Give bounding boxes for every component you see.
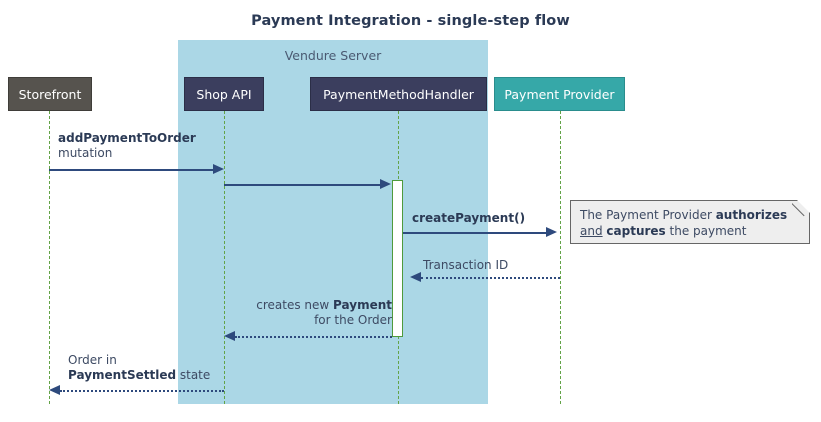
participant-label-storefront: Storefront (19, 87, 82, 102)
sequence-diagram-canvas: Payment Integration - single-step flow V… (0, 0, 821, 422)
participant-storefront[interactable]: Storefront (8, 77, 92, 111)
arrow-head-shop-api-to-handler (380, 179, 391, 189)
message-label-plain-order-in: Order in (68, 353, 117, 367)
message-line-create-payment (403, 232, 546, 234)
participant-shop-api[interactable]: Shop API (184, 77, 264, 111)
participant-label-shop-api: Shop API (196, 87, 251, 102)
note-line2-underlined-and: and (580, 224, 603, 238)
message-label-bold-create-payment: createPayment() (412, 211, 525, 225)
message-label-bold-add-payment-to-order: addPaymentToOrder (58, 131, 196, 145)
lifeline-storefront (49, 111, 50, 404)
participant-label-payment-method-handler: PaymentMethodHandler (323, 87, 474, 102)
lifeline-payment-provider (560, 111, 561, 404)
message-label-bold-payment-settled: PaymentSettled (68, 368, 176, 382)
message-line-creates-new-payment (235, 336, 392, 338)
message-label-add-payment-to-order: addPaymentToOrder mutation (58, 131, 196, 161)
participant-payment-provider[interactable]: Payment Provider (494, 77, 625, 111)
message-label-creates-new-payment: creates new Payment for the Order (192, 298, 392, 328)
message-label-order-payment-settled: Order in PaymentSettled state (68, 353, 210, 383)
participant-payment-method-handler[interactable]: PaymentMethodHandler (310, 77, 487, 111)
message-label-create-payment: createPayment() (412, 211, 525, 226)
page-title: Payment Integration - single-step flow (0, 13, 821, 29)
note-text-payment-provider: The Payment Provider authorizes and capt… (580, 207, 787, 239)
note-line2-plain: the payment (666, 224, 747, 238)
message-line-shop-api-to-handler (224, 184, 380, 186)
arrow-head-creates-new-payment (224, 331, 235, 341)
arrow-head-order-payment-settled (49, 385, 60, 395)
arrow-head-transaction-id (410, 272, 421, 282)
message-label-plain-creates-new: creates new (256, 298, 333, 312)
arrow-head-add-payment-to-order (213, 164, 224, 174)
note-line1-plain: The Payment Provider (580, 208, 716, 222)
message-label-plain-mutation: mutation (58, 146, 112, 160)
message-label-plain-state: state (176, 368, 210, 382)
activation-bar-payment-method-handler (392, 180, 403, 337)
note-fold-edge-icon (792, 200, 810, 218)
message-line-transaction-id (421, 277, 560, 279)
note-payment-provider: The Payment Provider authorizes and capt… (570, 200, 810, 244)
note-line1-bold-authorizes: authorizes (716, 208, 787, 222)
lifeline-shop-api (224, 111, 225, 404)
participant-label-payment-provider: Payment Provider (504, 87, 614, 102)
message-label-plain-for-the-order: for the Order (314, 313, 392, 327)
message-label-bold-payment: Payment (333, 298, 392, 312)
message-label-transaction-id: Transaction ID (423, 258, 508, 273)
group-label-vendure-server: Vendure Server (178, 48, 488, 63)
note-line2-bold-captures: captures (606, 224, 665, 238)
message-line-add-payment-to-order (49, 169, 213, 171)
message-line-order-payment-settled (60, 390, 224, 392)
arrow-head-create-payment (546, 227, 557, 237)
